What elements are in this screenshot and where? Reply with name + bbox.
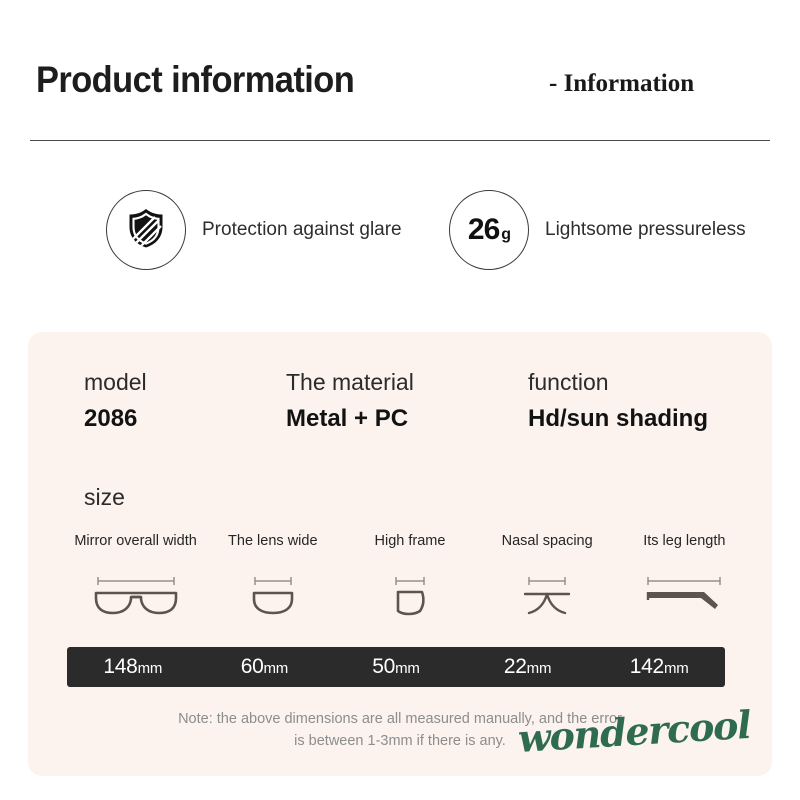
spec-item-model: model 2086 [84, 368, 147, 435]
size-header-nasal-spacing: Nasal spacing [485, 532, 610, 572]
size-column-overall-width: Mirror overall width [67, 532, 204, 618]
measurement-value: 148 [103, 655, 137, 678]
feature-list: Protection against glare 26g Lightsome p… [0, 190, 800, 290]
header-divider [30, 140, 770, 141]
spec-item-function: function Hd/sun shading [528, 368, 708, 435]
size-column-lens-width: The lens wide [204, 532, 341, 618]
measurement-temple-length: 142mm [593, 655, 725, 679]
spec-label-material: The material [286, 368, 414, 397]
size-column-nasal-spacing: Nasal spacing [479, 532, 616, 618]
shield-icon [125, 206, 167, 255]
weight-badge: 26g [468, 215, 510, 245]
weight-unit: g [501, 227, 510, 243]
feature-item-weight: 26g Lightsome pressureless [449, 190, 746, 270]
spec-value-function: Hd/sun shading [528, 403, 708, 434]
measurement-value: 50 [372, 655, 395, 678]
temple-length-icon [632, 572, 736, 618]
spec-label-function: function [528, 368, 708, 397]
measurement-unit: mm [664, 660, 689, 677]
weight-badge-circle: 26g [449, 190, 529, 270]
measurement-nasal-spacing: 22mm [462, 655, 594, 679]
size-section-title: size [84, 484, 125, 511]
spec-summary-row: model 2086 The material Metal + PC funct… [28, 368, 772, 448]
size-header-temple-length: Its leg length [622, 532, 747, 572]
shield-icon-circle [106, 190, 186, 270]
size-header-frame-height: High frame [347, 532, 472, 572]
size-column-frame-height: High frame [341, 532, 478, 618]
bridge-width-icon [495, 572, 599, 618]
measurement-unit: mm [138, 660, 163, 677]
page-title: Product information [36, 59, 354, 101]
measurement-unit: mm [527, 660, 552, 677]
size-column-headers: Mirror overall width The lens wide [67, 532, 753, 618]
page-header: Product information - Information [0, 0, 800, 142]
measurement-unit: mm [263, 660, 288, 677]
lens-width-icon [221, 572, 325, 618]
spec-value-material: Metal + PC [286, 403, 414, 434]
spec-item-material: The material Metal + PC [286, 368, 414, 435]
feature-item-glare-protection: Protection against glare [106, 190, 402, 270]
measurement-unit: mm [395, 660, 420, 677]
measurement-value: 142 [630, 655, 664, 678]
measurement-frame-height: 50mm [330, 655, 462, 679]
header-subtitle: - Information [549, 70, 694, 98]
measurement-value: 22 [504, 655, 527, 678]
measurement-overall-width: 148mm [67, 655, 199, 679]
lens-height-icon [358, 572, 462, 618]
weight-value: 26 [468, 215, 499, 245]
size-header-lens-width: The lens wide [210, 532, 335, 572]
spec-label-model: model [84, 368, 147, 397]
feature-label-glare-protection: Protection against glare [202, 217, 402, 244]
measurement-value: 60 [241, 655, 264, 678]
glasses-full-width-icon [84, 572, 188, 618]
measurement-lens-width: 60mm [199, 655, 331, 679]
feature-label-weight: Lightsome pressureless [545, 217, 746, 244]
size-column-temple-length: Its leg length [616, 532, 753, 618]
size-header-overall-width: Mirror overall width [73, 532, 198, 572]
measurement-value-bar: 148mm 60mm 50mm 22mm 142mm [67, 647, 725, 687]
spec-value-model: 2086 [84, 403, 147, 434]
